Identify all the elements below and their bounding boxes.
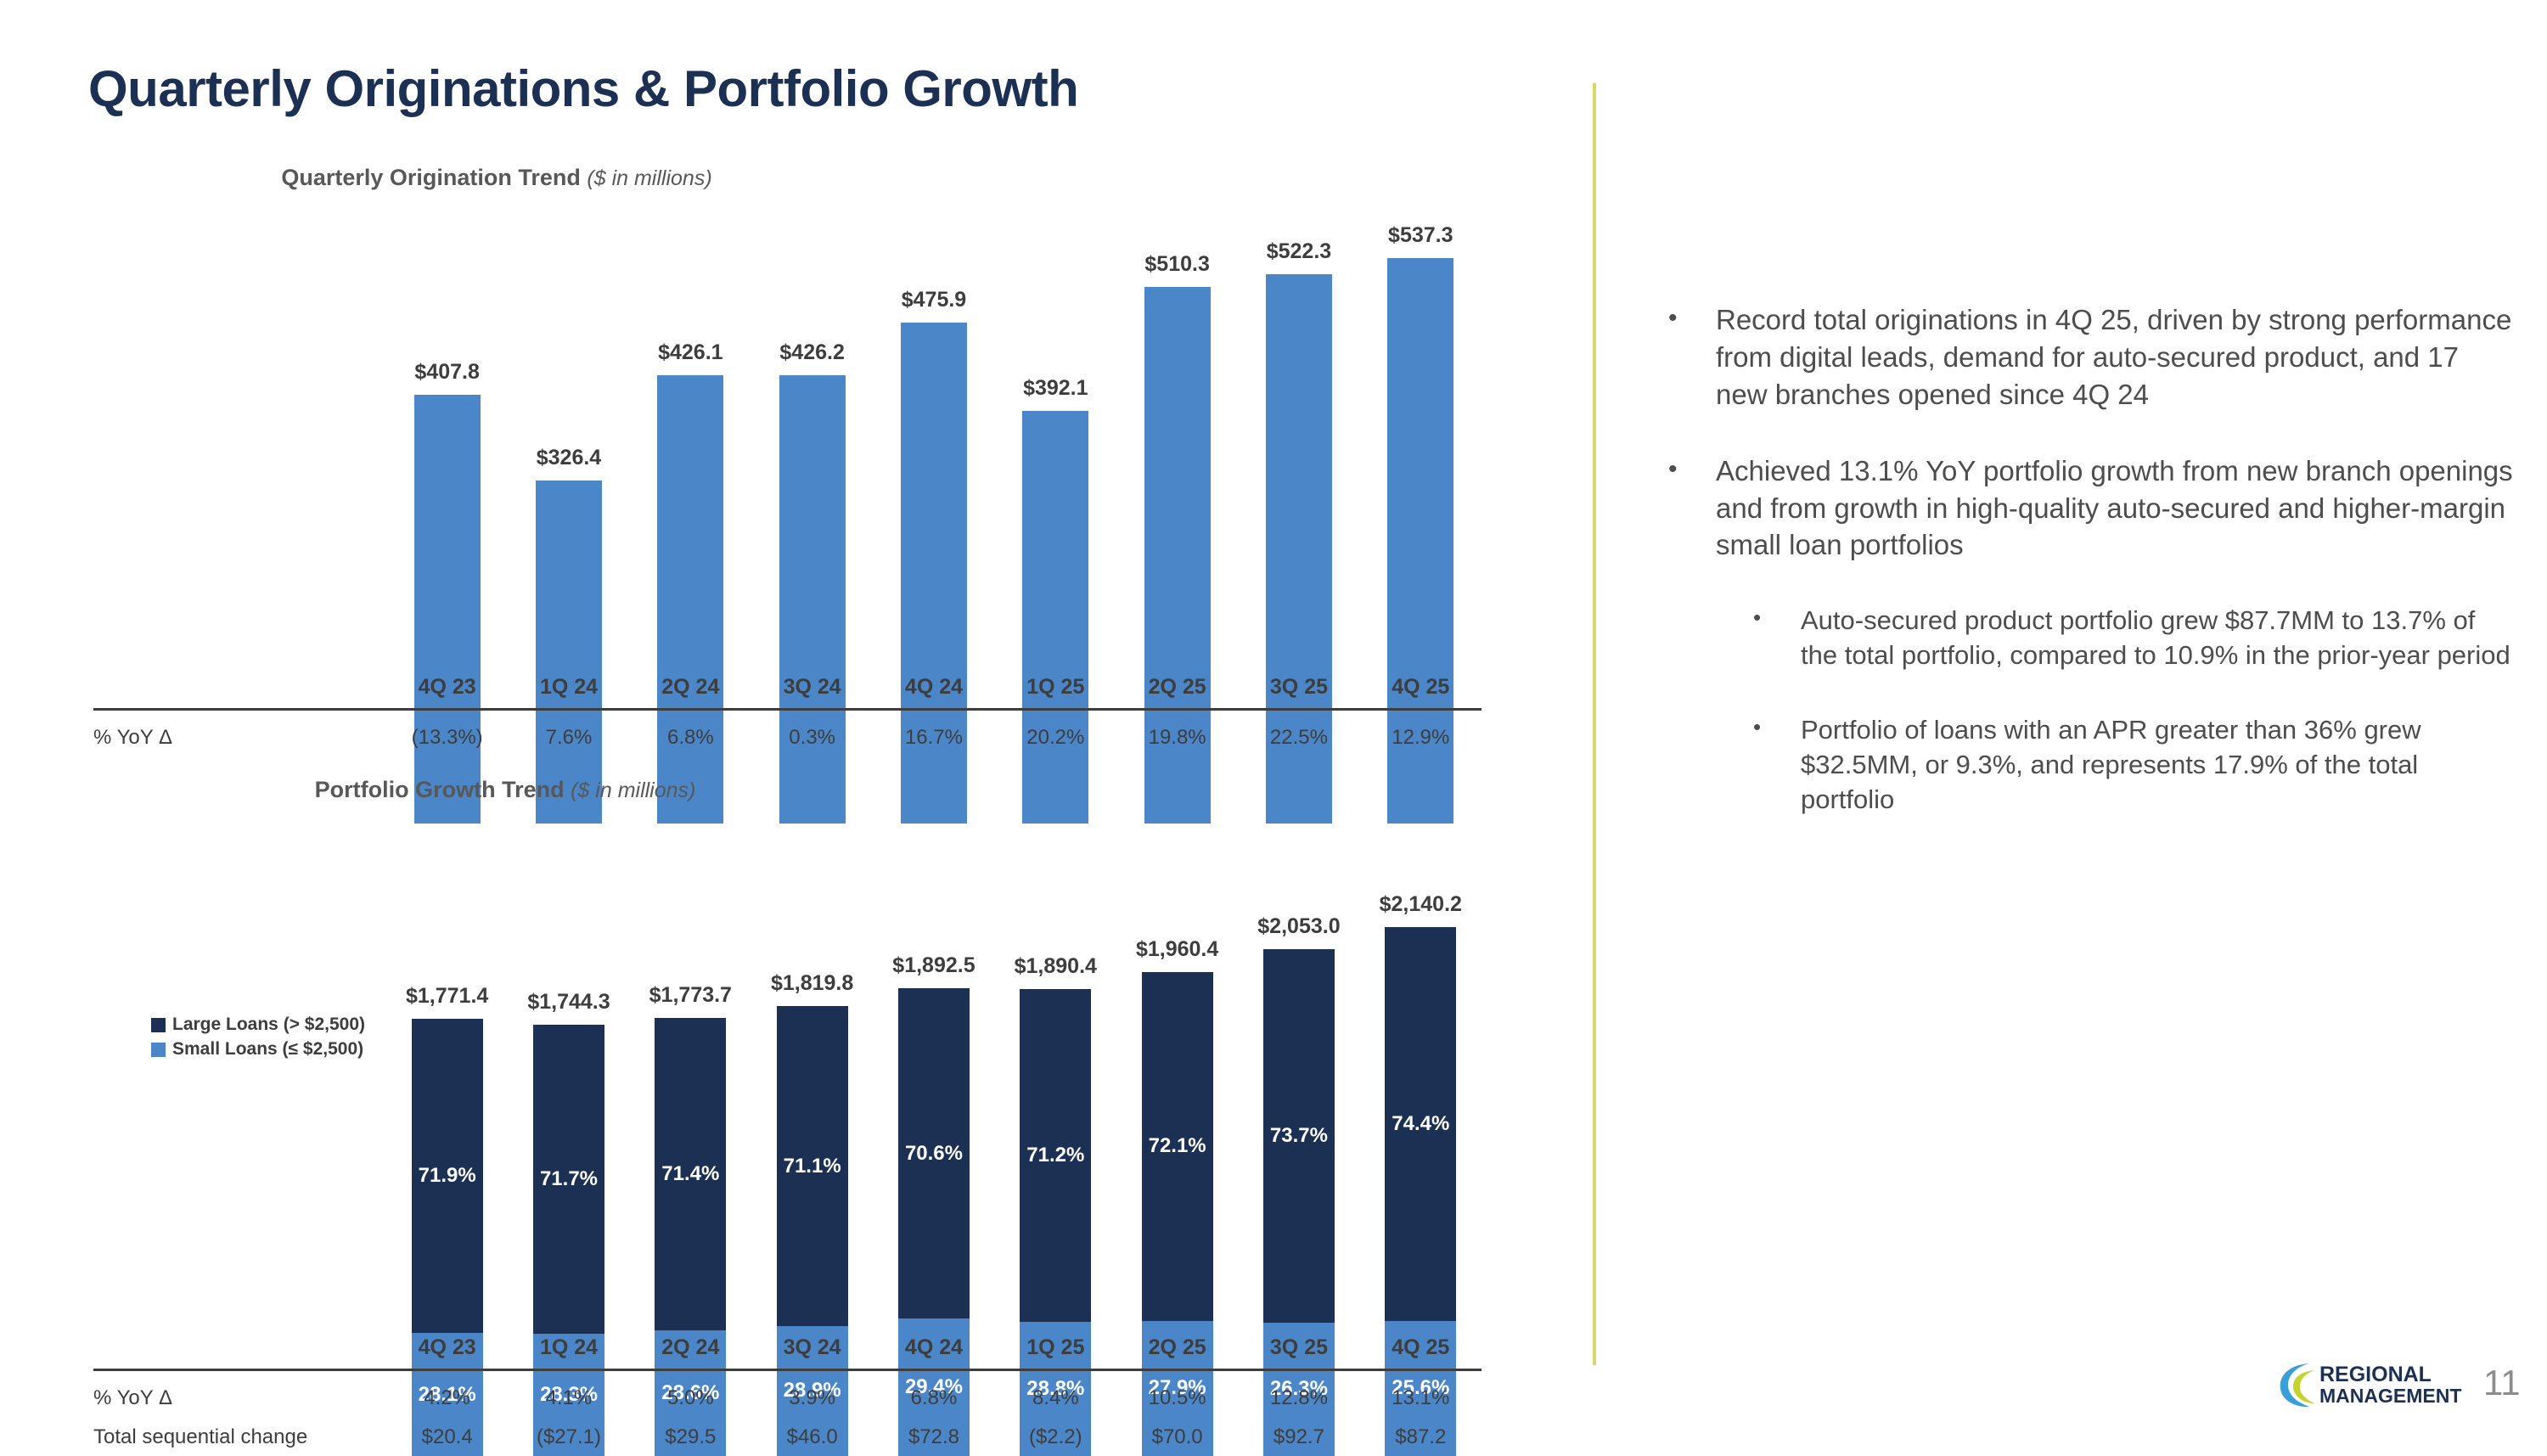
segment-large-loans-label: 71.7% — [540, 1167, 598, 1191]
quarter-label: 1Q 24 — [508, 675, 629, 700]
segment-large-loans: 74.4% — [1385, 927, 1456, 1320]
row-cell: $20.4 — [386, 1425, 508, 1449]
row-cell: 16.7% — [873, 726, 994, 750]
row-label: Total sequential change — [93, 1425, 386, 1449]
row-label-spacer — [93, 675, 386, 700]
vertical-divider — [1593, 83, 1596, 1365]
row-label: % YoY Δ — [93, 1386, 386, 1410]
svg-text:MANAGEMENT: MANAGEMENT — [2319, 1385, 2461, 1407]
segment-large-loans-label: 71.9% — [419, 1164, 476, 1188]
bullet-dot-icon: • — [1753, 712, 1801, 818]
logo-mark: REGIONAL MANAGEMENT — [2275, 1358, 2471, 1411]
chart2-units: ($ in millions) — [571, 779, 695, 802]
row-cell: 13.1% — [1360, 1386, 1482, 1410]
bar-value-label: $537.3 — [1388, 223, 1453, 248]
segment-large-loans: 71.4% — [655, 1018, 726, 1331]
stack-total-label: $1,744.3 — [527, 990, 610, 1015]
chart2-axis-rule — [93, 1369, 1482, 1371]
segment-large-loans: 71.7% — [533, 1025, 604, 1334]
row-cell: 4.2% — [386, 1386, 508, 1410]
chart1-axis-rule — [93, 708, 1482, 711]
chart2-heading: Portfolio Growth Trend ($ in millions) — [0, 777, 1282, 803]
segment-large-loans-label: 73.7% — [1270, 1124, 1328, 1148]
segment-large-loans-label: 71.2% — [1026, 1144, 1084, 1167]
legend-label-small-loans: Small Loans (≤ $2,500) — [172, 1039, 363, 1060]
quarter-label: 4Q 25 — [1360, 675, 1482, 700]
quarter-label: 1Q 25 — [995, 1335, 1116, 1360]
page-title: Quarterly Originations & Portfolio Growt… — [88, 59, 1078, 118]
commentary-bullets: •Record total originations in 4Q 25, dri… — [1668, 301, 2517, 856]
bullet-text: Portfolio of loans with an APR greater t… — [1801, 712, 2517, 818]
chart1-axis-table: 4Q 231Q 242Q 243Q 244Q 241Q 252Q 253Q 25… — [93, 675, 1482, 750]
row-cell: 12.9% — [1360, 726, 1482, 750]
quarter-label: 1Q 25 — [995, 675, 1116, 700]
row-cell: (13.3%) — [386, 726, 508, 750]
quarter-label: 3Q 24 — [751, 1335, 873, 1360]
row-cell: 3.9% — [751, 1386, 873, 1410]
slide-root: Quarterly Originations & Portfolio Growt… — [0, 0, 2547, 1432]
bullet-text: Record total originations in 4Q 25, driv… — [1716, 301, 2517, 413]
row-label: % YoY Δ — [93, 726, 386, 750]
legend-swatch-small-loans — [151, 1043, 166, 1057]
row-cell: 7.6% — [508, 726, 629, 750]
segment-large-loans: 72.1% — [1142, 972, 1213, 1321]
stack-total-label: $2,053.0 — [1257, 914, 1340, 939]
quarter-label: 2Q 25 — [1116, 1335, 1238, 1360]
row-cell: 22.5% — [1238, 726, 1359, 750]
legend-item-small-loans: Small Loans (≤ $2,500) — [151, 1039, 365, 1060]
chart2-title: Portfolio Growth Trend — [315, 777, 565, 802]
quarter-label: 4Q 23 — [386, 1335, 508, 1360]
stack-total-label: $1,960.4 — [1136, 937, 1218, 962]
row-cell: $70.0 — [1116, 1425, 1238, 1449]
row-cell: $87.2 — [1360, 1425, 1482, 1449]
bar — [1022, 411, 1088, 824]
row-cell: $29.5 — [630, 1425, 751, 1449]
bar — [657, 375, 723, 824]
stack-total-label: $1,819.8 — [771, 971, 853, 996]
stack-total-label: $1,892.5 — [892, 953, 975, 978]
quarter-label: 4Q 24 — [873, 675, 994, 700]
quarter-label: 2Q 24 — [630, 1335, 751, 1360]
segment-large-loans-label: 70.6% — [905, 1142, 963, 1166]
segment-large-loans-label: 74.4% — [1392, 1112, 1449, 1136]
legend-item-large-loans: Large Loans (> $2,500) — [151, 1015, 365, 1035]
legend-swatch-large-loans — [151, 1018, 166, 1032]
segment-large-loans-label: 71.4% — [661, 1162, 719, 1186]
row-cell: 4.1% — [508, 1386, 629, 1410]
row-cell: 5.0% — [630, 1386, 751, 1410]
stack-total-label: $2,140.2 — [1380, 892, 1462, 917]
row-cell: 0.3% — [751, 726, 873, 750]
row-cell: 10.5% — [1116, 1386, 1238, 1410]
row-cell: 6.8% — [630, 726, 751, 750]
bar — [779, 375, 846, 824]
legend-label-large-loans: Large Loans (> $2,500) — [172, 1015, 365, 1035]
bullet-text: Achieved 13.1% YoY portfolio growth from… — [1716, 453, 2517, 565]
bar-value-label: $326.4 — [537, 446, 601, 470]
chart1-title: Quarterly Origination Trend — [281, 165, 581, 190]
row-cell: ($27.1) — [508, 1425, 629, 1449]
chart1-axis-header-row: 4Q 231Q 242Q 243Q 244Q 241Q 252Q 253Q 25… — [93, 675, 1482, 700]
quarter-label: 2Q 24 — [630, 675, 751, 700]
row-cell: $92.7 — [1238, 1425, 1359, 1449]
row-label-spacer — [93, 1335, 386, 1360]
quarter-label: 2Q 25 — [1116, 675, 1238, 700]
quarter-label: 1Q 24 — [508, 1335, 629, 1360]
chart1-heading: Quarterly Origination Trend ($ in millio… — [0, 165, 1273, 191]
origination-trend-chart: Quarterly Origination Trend ($ in millio… — [0, 153, 1554, 747]
chart1-units: ($ in millions) — [587, 166, 711, 190]
bullet-dot-icon: • — [1668, 301, 1716, 413]
row-cell: 20.2% — [995, 726, 1116, 750]
page-number: 11 — [2483, 1363, 2521, 1403]
sub-bullet-item: •Portfolio of loans with an APR greater … — [1753, 712, 2517, 818]
bullet-dot-icon: • — [1668, 453, 1716, 565]
quarter-label: 4Q 25 — [1360, 1335, 1482, 1360]
bullet-item: •Record total originations in 4Q 25, dri… — [1668, 301, 2517, 413]
segment-large-loans-label: 71.1% — [784, 1155, 841, 1178]
regional-management-logo: REGIONAL MANAGEMENT — [2275, 1358, 2471, 1411]
segment-large-loans: 71.1% — [777, 1006, 848, 1326]
chart2-legend: Large Loans (> $2,500) Small Loans (≤ $2… — [151, 1015, 365, 1064]
quarter-label: 3Q 25 — [1238, 1335, 1359, 1360]
row-cell: 12.8% — [1238, 1386, 1359, 1410]
bar-value-label: $475.9 — [902, 288, 966, 312]
chart2-axis-row: Total sequential change$20.4($27.1)$29.5… — [93, 1425, 1482, 1449]
stack-total-label: $1,771.4 — [406, 984, 488, 1009]
stack-total-label: $1,890.4 — [1015, 954, 1097, 979]
row-cell: $46.0 — [751, 1425, 873, 1449]
bar-value-label: $407.8 — [414, 360, 479, 385]
segment-large-loans: 71.2% — [1020, 989, 1091, 1322]
svg-text:REGIONAL: REGIONAL — [2319, 1363, 2432, 1386]
quarter-label: 4Q 23 — [386, 675, 508, 700]
segment-large-loans: 71.9% — [412, 1019, 483, 1334]
quarter-label: 3Q 25 — [1238, 675, 1359, 700]
segment-large-loans: 70.6% — [898, 988, 970, 1318]
bar-value-label: $510.3 — [1144, 252, 1209, 277]
bar-value-label: $426.2 — [779, 340, 844, 365]
bullet-item: •Achieved 13.1% YoY portfolio growth fro… — [1668, 453, 2517, 565]
bullet-dot-icon: • — [1753, 603, 1801, 672]
portfolio-growth-chart: Portfolio Growth Trend ($ in millions) $… — [0, 777, 1554, 1371]
segment-large-loans: 73.7% — [1263, 949, 1335, 1323]
chart2-axis-row: % YoY Δ4.2%4.1%5.0%3.9%6.8%8.4%10.5%12.8… — [93, 1386, 1482, 1410]
bar — [536, 481, 602, 824]
row-cell: ($2.2) — [995, 1425, 1116, 1449]
sub-bullet-item: •Auto-secured product portfolio grew $87… — [1753, 603, 2517, 672]
row-cell: 8.4% — [995, 1386, 1116, 1410]
quarter-label: 3Q 24 — [751, 675, 873, 700]
row-cell: 6.8% — [873, 1386, 994, 1410]
chart2-axis-header-row: 4Q 231Q 242Q 243Q 244Q 241Q 252Q 253Q 25… — [93, 1335, 1482, 1360]
segment-large-loans-label: 72.1% — [1149, 1134, 1206, 1158]
bullet-text: Auto-secured product portfolio grew $87.… — [1801, 603, 2517, 672]
row-cell: $72.8 — [873, 1425, 994, 1449]
bar-value-label: $522.3 — [1267, 239, 1331, 264]
row-cell: 19.8% — [1116, 726, 1238, 750]
bar — [414, 395, 481, 824]
bar-value-label: $392.1 — [1023, 376, 1088, 401]
stack-total-label: $1,773.7 — [649, 983, 732, 1008]
bar-value-label: $426.1 — [658, 340, 722, 365]
chart1-axis-row: % YoY Δ(13.3%)7.6%6.8%0.3%16.7%20.2%19.8… — [93, 726, 1482, 750]
quarter-label: 4Q 24 — [873, 1335, 994, 1360]
